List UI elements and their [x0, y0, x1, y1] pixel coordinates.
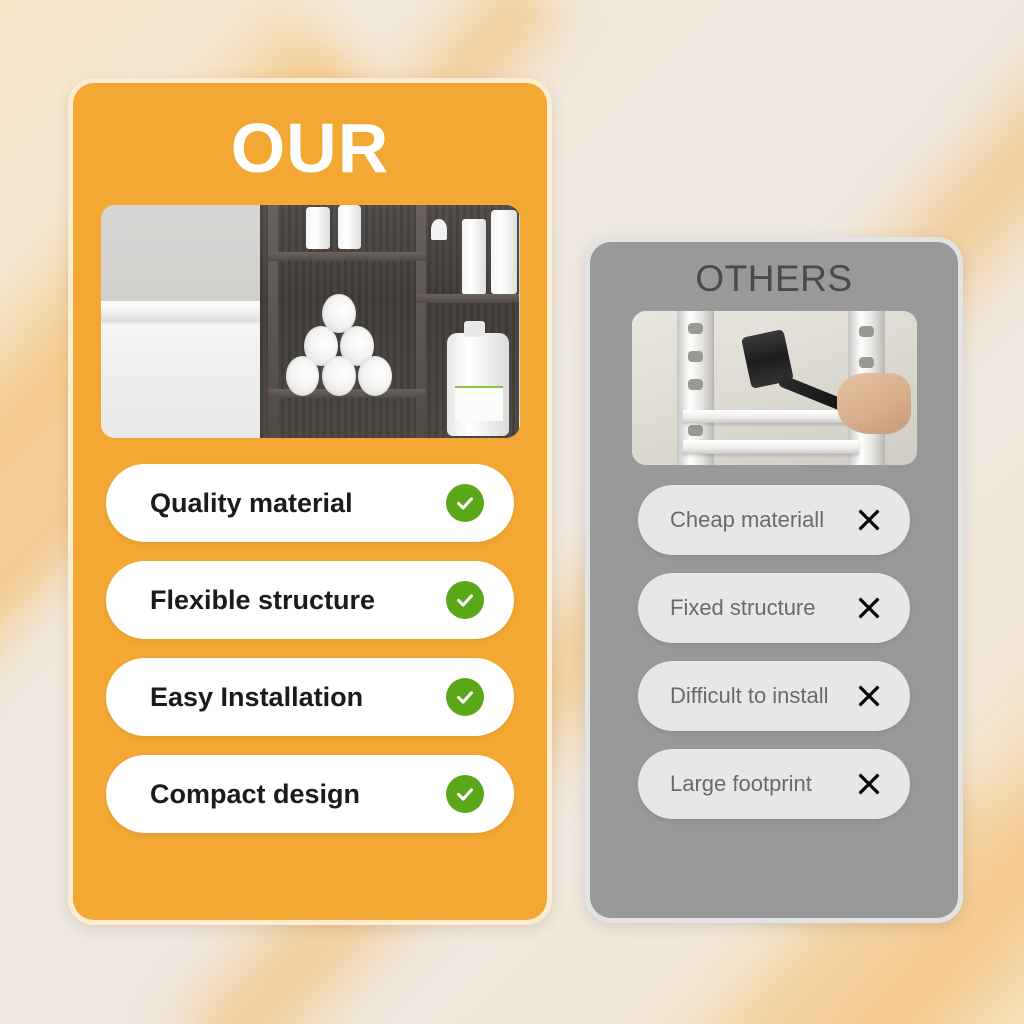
others-feature-list: Cheap materiall Fixed structure Difficul…: [590, 485, 958, 819]
close-x-icon: [852, 767, 886, 801]
our-feature-list: Quality material Flexible structure Easy…: [73, 464, 547, 833]
check-circle-icon: [446, 775, 484, 813]
close-x-icon: [852, 679, 886, 713]
others-feature-label: Cheap materiall: [670, 507, 824, 533]
others-feature-label: Fixed structure: [670, 595, 816, 621]
others-feature-label: Large footprint: [670, 771, 812, 797]
others-feature-row[interactable]: Difficult to install: [638, 661, 910, 731]
our-feature-row[interactable]: Flexible structure: [106, 561, 514, 639]
others-feature-row[interactable]: Large footprint: [638, 749, 910, 819]
others-panel-title: OTHERS: [590, 260, 958, 297]
check-circle-icon: [446, 678, 484, 716]
our-feature-label: Easy Installation: [150, 682, 363, 713]
check-circle-icon: [446, 581, 484, 619]
others-feature-label: Difficult to install: [670, 683, 829, 709]
our-feature-row[interactable]: Quality material: [106, 464, 514, 542]
our-feature-row[interactable]: Easy Installation: [106, 658, 514, 736]
close-x-icon: [852, 591, 886, 625]
our-feature-label: Compact design: [150, 779, 360, 810]
our-product-photo: [101, 205, 520, 438]
our-feature-row[interactable]: Compact design: [106, 755, 514, 833]
check-circle-icon: [446, 484, 484, 522]
comparison-infographic: OUR: [0, 0, 1024, 1024]
close-x-icon: [852, 503, 886, 537]
others-feature-row[interactable]: Fixed structure: [638, 573, 910, 643]
our-panel: OUR: [68, 78, 552, 925]
our-panel-title: OUR: [73, 113, 547, 183]
others-product-photo: [632, 311, 917, 465]
our-feature-label: Quality material: [150, 488, 353, 519]
our-feature-label: Flexible structure: [150, 585, 375, 616]
others-panel: OTHERS Cheap materiall: [585, 237, 963, 923]
others-feature-row[interactable]: Cheap materiall: [638, 485, 910, 555]
